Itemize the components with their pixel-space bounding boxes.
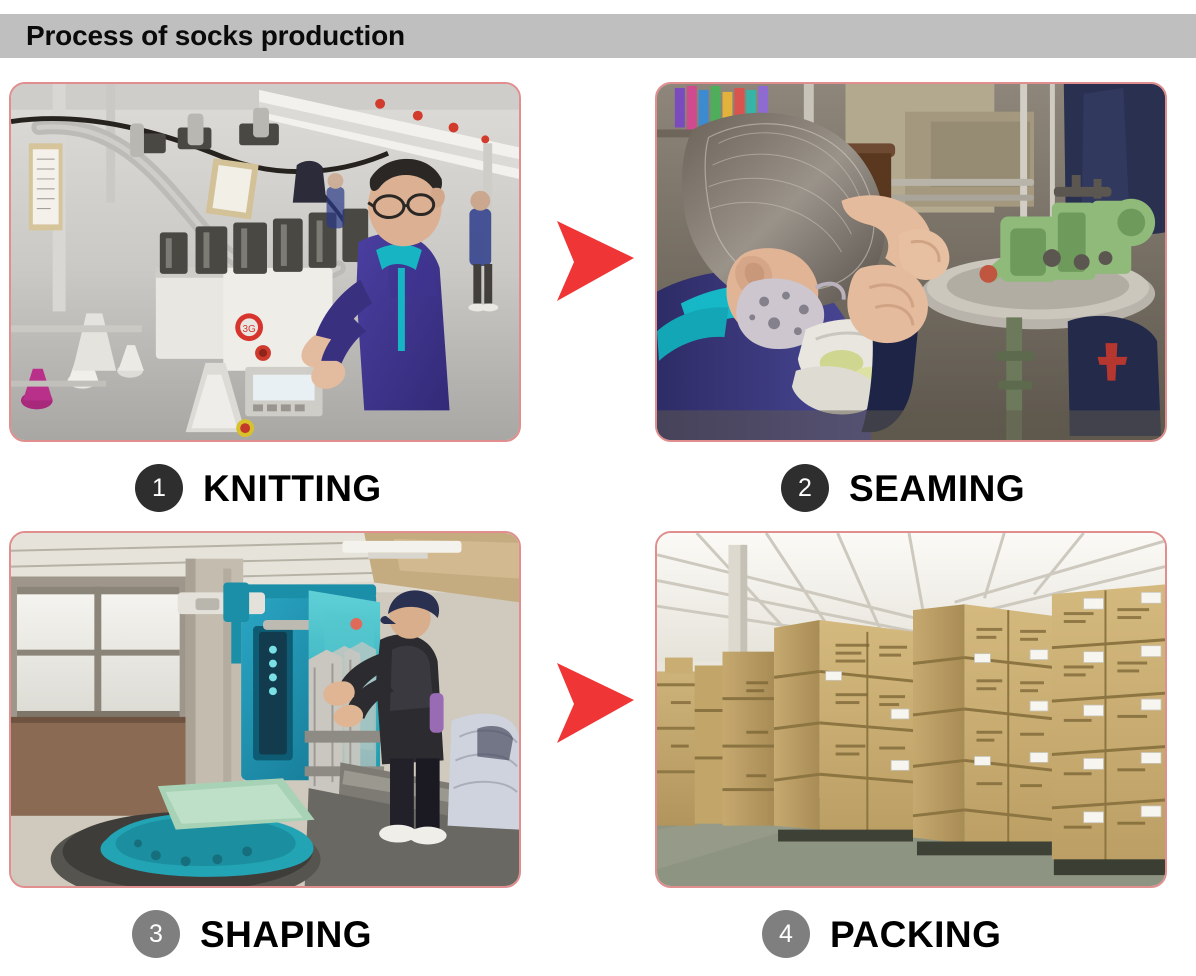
header-bar: Process of socks production <box>0 14 1196 58</box>
step-title: PACKING <box>830 916 1001 953</box>
packing-photo <box>657 533 1165 886</box>
shaping-photo <box>11 533 519 886</box>
seaming-photo-card <box>655 82 1167 442</box>
packing-photo-card <box>655 531 1167 888</box>
step-label-seaming: 2 SEAMING <box>781 460 1025 516</box>
arrow-shaping-to-packing <box>554 660 638 746</box>
shaping-scene <box>11 533 519 886</box>
step-badge-2: 2 <box>781 464 829 512</box>
arrow-knitting-to-seaming <box>554 218 638 304</box>
step-label-packing: 4 PACKING <box>762 906 1001 962</box>
step-title: SEAMING <box>849 470 1025 507</box>
step-badge-4: 4 <box>762 910 810 958</box>
step-badge-1: 1 <box>135 464 183 512</box>
step-number: 2 <box>798 476 812 501</box>
step-number: 1 <box>152 476 166 501</box>
arrow-right-icon <box>554 660 638 746</box>
knitting-photo: 3G <box>11 84 519 440</box>
seaming-photo <box>657 84 1165 440</box>
shaping-photo-card <box>9 531 521 888</box>
page-title: Process of socks production <box>26 22 405 50</box>
step-label-knitting: 1 KNITTING <box>135 460 382 516</box>
step-badge-3: 3 <box>132 910 180 958</box>
step-number: 3 <box>149 922 163 947</box>
seaming-scene <box>657 84 1165 440</box>
knitting-scene: 3G <box>11 84 519 440</box>
process-infographic: Process of socks production <box>0 0 1196 976</box>
svg-text:3G: 3G <box>243 324 256 335</box>
arrow-right-icon <box>554 218 638 304</box>
knitting-photo-card: 3G <box>9 82 521 442</box>
step-label-shaping: 3 SHAPING <box>132 906 372 962</box>
step-number: 4 <box>779 922 793 947</box>
step-title: SHAPING <box>200 916 372 953</box>
step-title: KNITTING <box>203 470 382 507</box>
packing-scene <box>657 533 1165 886</box>
